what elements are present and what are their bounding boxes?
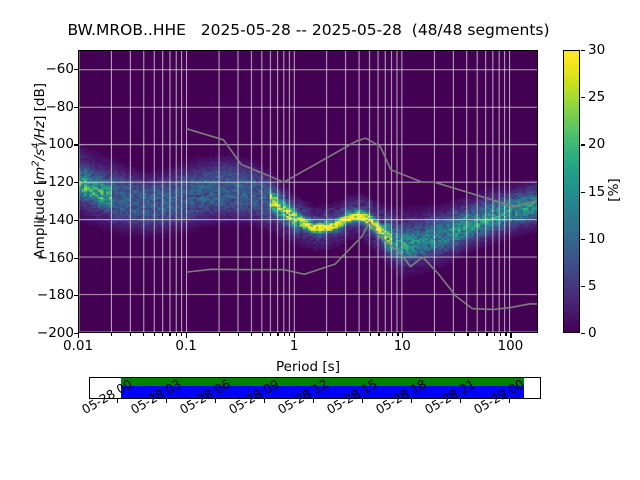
x-tick-mark-minor	[176, 333, 177, 336]
noise-model-curves-canvas	[79, 51, 537, 332]
x-tick-mark-minor	[130, 333, 131, 336]
y-tick-mark	[74, 258, 78, 259]
x-tick-mark-minor	[143, 333, 144, 336]
colorbar-tick-mark	[581, 97, 585, 98]
colorbar-tick-mark	[581, 50, 585, 51]
colorbar[interactable]	[563, 50, 580, 333]
x-tick-mark-minor	[505, 333, 506, 336]
y-tick-mark	[74, 107, 78, 108]
x-tick-mark-major	[402, 333, 403, 338]
x-tick-mark-minor	[327, 333, 328, 336]
y-tick-label: −180	[12, 287, 74, 303]
colorbar-tick-label: 15	[588, 184, 605, 200]
x-tick-mark-minor	[181, 333, 182, 336]
y-axis: Amplitude [m2/s4/Hz] [dB] −200−180−160−1…	[6, 0, 74, 480]
x-tick-mark-minor	[238, 333, 239, 336]
x-tick-mark-minor	[392, 333, 393, 336]
x-tick-label: 1	[290, 338, 299, 354]
x-tick-mark-minor	[467, 333, 468, 336]
x-tick-mark-minor	[397, 333, 398, 336]
colorbar-tick-label: 10	[588, 231, 605, 247]
x-tick-label: 0.1	[175, 338, 196, 354]
x-tick-mark-minor	[284, 333, 285, 336]
y-axis-label-unit-sup1: 2	[30, 160, 41, 166]
colorbar-tick-mark	[581, 333, 585, 334]
colorbar-tick-label: 0	[588, 325, 597, 341]
y-tick-mark	[74, 295, 78, 296]
x-tick-mark-minor	[154, 333, 155, 336]
x-tick-mark-minor	[219, 333, 220, 336]
x-tick-mark-minor	[262, 333, 263, 336]
colorbar-tick-mark	[581, 286, 585, 287]
y-tick-label: −60	[12, 61, 74, 77]
y-tick-mark	[74, 144, 78, 145]
x-tick-mark-major	[510, 333, 511, 338]
y-tick-label: −100	[12, 136, 74, 152]
colorbar-tick-label: 25	[588, 89, 605, 105]
timeline-tick-mark	[313, 399, 314, 403]
x-tick-mark-minor	[454, 333, 455, 336]
x-tick-mark-major	[78, 333, 79, 338]
colorbar-tick-label: 5	[588, 278, 597, 294]
colorbar-label: [%]	[606, 150, 622, 230]
y-tick-label: −140	[12, 212, 74, 228]
colorbar-tick-label: 20	[588, 136, 605, 152]
timeline-tick-mark	[411, 399, 412, 403]
x-tick-mark-minor	[500, 333, 501, 336]
y-tick-label: −80	[12, 99, 74, 115]
x-tick-mark-minor	[494, 333, 495, 336]
ppsd-plot-area[interactable]	[78, 50, 538, 333]
timeline-tick-mark	[264, 399, 265, 403]
y-tick-label: −120	[12, 174, 74, 190]
x-tick-mark-minor	[435, 333, 436, 336]
y-tick-mark	[74, 69, 78, 70]
timeline-tick-mark	[460, 399, 461, 403]
x-tick-mark-minor	[251, 333, 252, 336]
x-tick-label: 100	[498, 338, 524, 354]
timeline-tick-mark	[362, 399, 363, 403]
timeline-tick-mark	[117, 399, 118, 403]
x-tick-mark-major	[186, 333, 187, 338]
x-tick-mark-minor	[162, 333, 163, 336]
x-tick-mark-minor	[270, 333, 271, 336]
ppsd-figure: BW.MROB..HHE 2025-05-28 -- 2025-05-28 (4…	[0, 0, 640, 480]
timeline-tick-mark	[215, 399, 216, 403]
y-tick-mark	[74, 220, 78, 221]
page-title: BW.MROB..HHE 2025-05-28 -- 2025-05-28 (4…	[0, 21, 617, 39]
x-tick-mark-minor	[370, 333, 371, 336]
colorbar-tick-label: 30	[588, 42, 605, 58]
colorbar-tick-mark	[581, 192, 585, 193]
x-tick-mark-minor	[486, 333, 487, 336]
x-tick-mark-minor	[359, 333, 360, 336]
x-tick-label: 0.01	[63, 338, 93, 354]
timeline-tick-mark	[509, 399, 510, 403]
y-tick-label: −160	[12, 250, 74, 266]
x-tick-mark-major	[294, 333, 295, 338]
x-axis-label: Period [s]	[78, 359, 538, 375]
x-tick-mark-minor	[378, 333, 379, 336]
x-tick-mark-minor	[277, 333, 278, 336]
x-tick-mark-minor	[289, 333, 290, 336]
y-tick-mark	[74, 182, 78, 183]
x-tick-mark-minor	[386, 333, 387, 336]
x-tick-mark-minor	[346, 333, 347, 336]
colorbar-gradient	[564, 51, 579, 332]
x-tick-mark-minor	[111, 333, 112, 336]
x-tick-label: 10	[394, 338, 411, 354]
x-tick-mark-minor	[169, 333, 170, 336]
colorbar-tick-mark	[581, 239, 585, 240]
timeline-tick-mark	[166, 399, 167, 403]
colorbar-tick-mark	[581, 144, 585, 145]
x-tick-mark-minor	[478, 333, 479, 336]
